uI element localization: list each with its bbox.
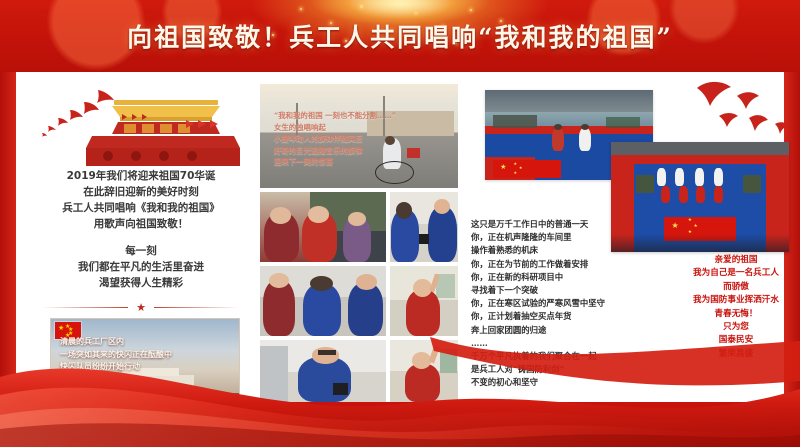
lab-workers-photo: [260, 266, 386, 336]
left-paragraph-2: 每一刻 我们都在平凡的生活里奋进 渴望获得人生精彩: [36, 243, 246, 291]
two-workers-blue-uniform-photo: [390, 192, 458, 262]
calligraphy-paragraph-2: 只为您 国泰民安 繁荣昌盛: [666, 321, 800, 361]
girl-red-hoodie-photo: [390, 266, 458, 336]
factory-dawn-photo: ★ ★ ★ ★ ★ 清晨的兵工厂区内 一场突如其来的快闪正在酝酿中 快闪队员纷纷…: [50, 318, 240, 402]
left-intro-text: 2019年我们将迎来祖国70华诞 在此辞旧迎新的美好时刻 兵工人共同唱响《我和我…: [36, 168, 246, 291]
waving-student-photo: [390, 340, 458, 402]
left-rail: [0, 72, 16, 402]
technician-workshop-photo: [260, 340, 386, 402]
body-paragraph-1: 这只是万千工作日中的普通一天 你，正在机声隆隆的车间里 操作着熟悉的机床 你，正…: [471, 218, 657, 350]
bicycle-street-photo: “我和我的祖国 一刻也不能分割……” 女生的独唱响起 小提琴动人的旋律伴随其后 …: [260, 84, 458, 188]
page-title: 向祖国致敬！兵工人共同唱响“我和我的祖国”: [0, 0, 800, 72]
main-body-text: 这只是万千工作日中的普通一天 你，正在机声隆隆的车间里 操作着熟悉的机床 你，正…: [471, 218, 657, 390]
left-paragraph-1: 2019年我们将迎来祖国70华诞 在此辞旧迎新的美好时刻 兵工人共同唱响《我和我…: [36, 168, 246, 232]
star-icon: ★: [136, 302, 146, 313]
left-column: 2019年我们将迎来祖国70华诞 在此辞旧迎新的美好时刻 兵工人共同唱响《我和我…: [36, 82, 246, 392]
header-banner: 向祖国致敬！兵工人共同唱响“我和我的祖国”: [0, 0, 800, 72]
poster-canvas: 向祖国致敬！兵工人共同唱响“我和我的祖国”: [0, 0, 800, 447]
flying-doves-icon: [40, 86, 130, 142]
bicycle-photo-caption: “我和我的祖国 一刻也不能分割……” 女生的独唱响起 小提琴动人的旋律伴随其后 …: [274, 110, 446, 168]
center-column: “我和我的祖国 一刻也不能分割……” 女生的独唱响起 小提琴动人的旋律伴随其后 …: [260, 82, 458, 394]
section-divider: ★: [42, 300, 240, 314]
flying-doves-icon: [685, 78, 795, 138]
factory-photo-caption: 清晨的兵工厂区内 一场突如其来的快闪正在酝酿中 快闪队员纷纷开始行动: [60, 335, 236, 373]
choir-women-singing-photo: [260, 192, 386, 262]
calligraphy-column: 亲爱的祖国 我为自己是一名兵工人 而骄傲 我为国防事业挥洒汗水 青春无悔！ 只为…: [666, 254, 800, 361]
divider-line-right: [154, 307, 240, 308]
calligraphy-paragraph-1: 亲爱的祖国 我为自己是一名兵工人 而骄傲 我为国防事业挥洒汗水 青春无悔！: [666, 254, 800, 321]
body-paragraph-2: 千万个平凡执着的我们聚合在一起 是兵工人对“铸国防利剑” 不变的初心和坚守: [471, 350, 657, 390]
content-card: 2019年我们将迎来祖国70华诞 在此辞旧迎新的美好时刻 兵工人共同唱响《我和我…: [16, 72, 784, 402]
divider-line-left: [42, 307, 128, 308]
